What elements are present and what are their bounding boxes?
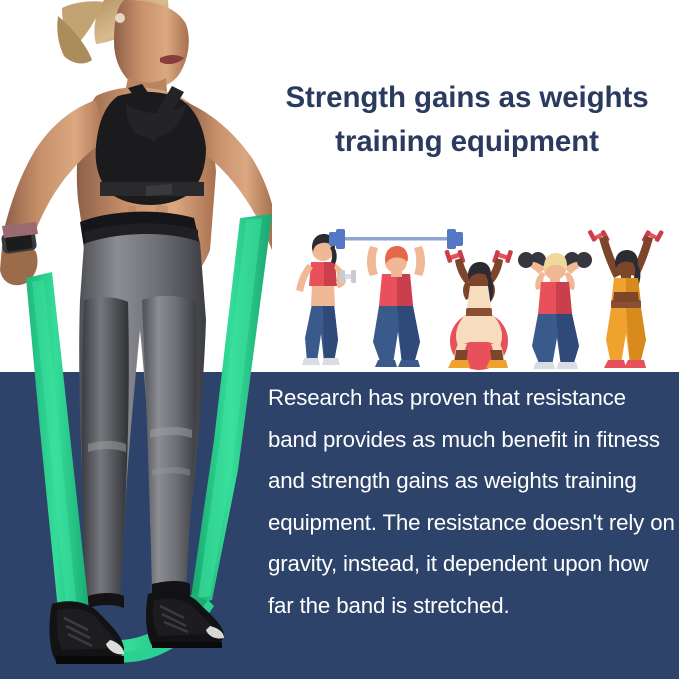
figure-3 [444,250,513,370]
dumbbell-1 [340,270,356,283]
headline-line-1: Strength gains as weights [285,81,648,114]
figure-5 [587,230,664,368]
headline: Strength gains as weights training equip… [258,76,676,164]
product-infographic: Strength gains as weights training equip… [0,0,679,679]
figure-4 [518,252,592,369]
hero-photo [0,0,272,679]
figure-2 [329,229,463,367]
barbell [329,229,463,249]
body-paragraph: Research has proven that resistance band… [268,377,676,626]
weight-training-illustration: .sk{fill:#f0b894}.skD{fill:#7d4529}.skM{… [290,222,679,372]
figure-1 [296,234,356,365]
headline-line-2: training equipment [258,120,676,164]
